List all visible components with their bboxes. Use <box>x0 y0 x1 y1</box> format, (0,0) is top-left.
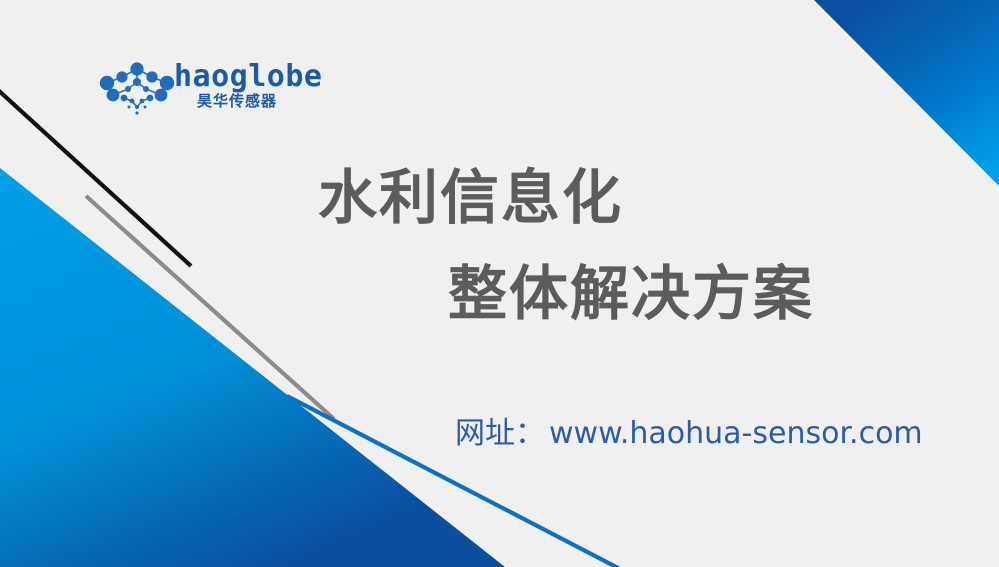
title-line-2: 整体解决方案 <box>448 264 814 323</box>
haoglobe-molecular-network-mark <box>98 60 176 116</box>
company-logo: haoglobe 昊华传感器 <box>98 56 328 122</box>
website-line: 网址：www.haohua-sensor.com <box>455 419 923 449</box>
website-label: 网址： <box>455 416 545 451</box>
website-url[interactable]: www.haohua-sensor.com <box>549 416 923 451</box>
logo-wordmark: haoglobe <box>174 62 323 92</box>
presentation-slide: haoglobe 昊华传感器 水利信息化 整体解决方案 网址：www.haohu… <box>0 0 999 567</box>
title-line-1: 水利信息化 <box>318 168 623 227</box>
top-right-blue-triangle <box>814 0 999 186</box>
logo-subtitle: 昊华传感器 <box>197 94 277 109</box>
slide-title: 水利信息化 整体解决方案 <box>0 168 999 338</box>
